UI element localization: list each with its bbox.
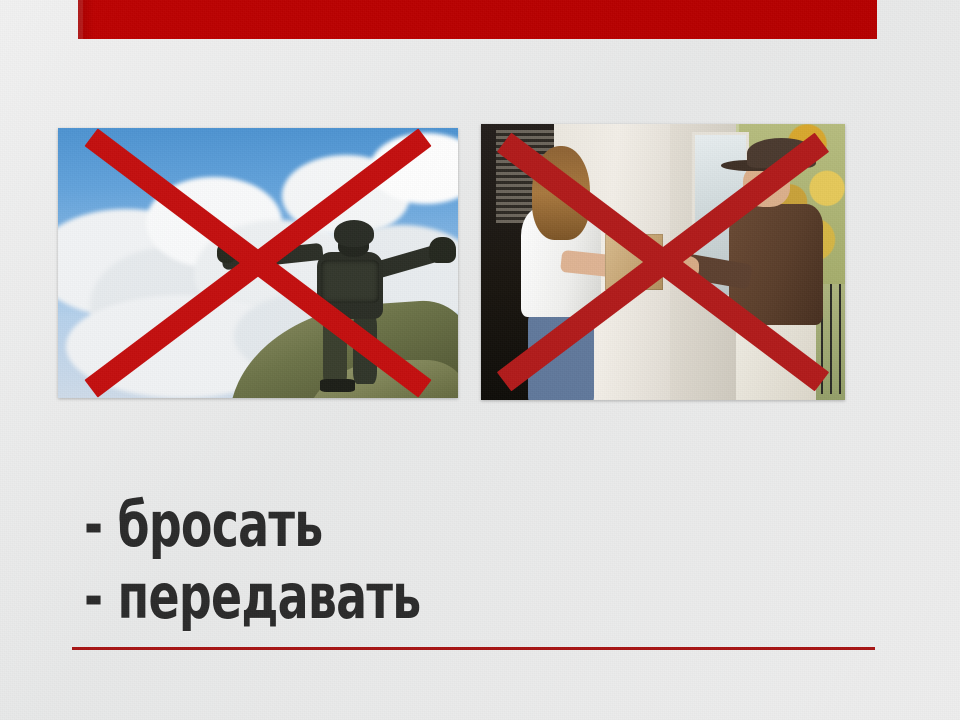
headline-block: - бросать - передавать bbox=[84, 489, 421, 633]
bottom-divider bbox=[72, 647, 875, 650]
red-x-overlay-right bbox=[481, 124, 845, 400]
photo-package-handoff bbox=[481, 124, 845, 400]
banner-left-edge bbox=[78, 0, 83, 39]
slide-canvas: - бросать - передавать bbox=[0, 0, 960, 720]
title-banner bbox=[78, 0, 877, 39]
headline-line-1: - бросать bbox=[84, 489, 421, 561]
headline-line-2: - передавать bbox=[84, 561, 421, 633]
red-x-overlay-left bbox=[58, 128, 458, 398]
photo-soldier-throwing bbox=[58, 128, 458, 398]
